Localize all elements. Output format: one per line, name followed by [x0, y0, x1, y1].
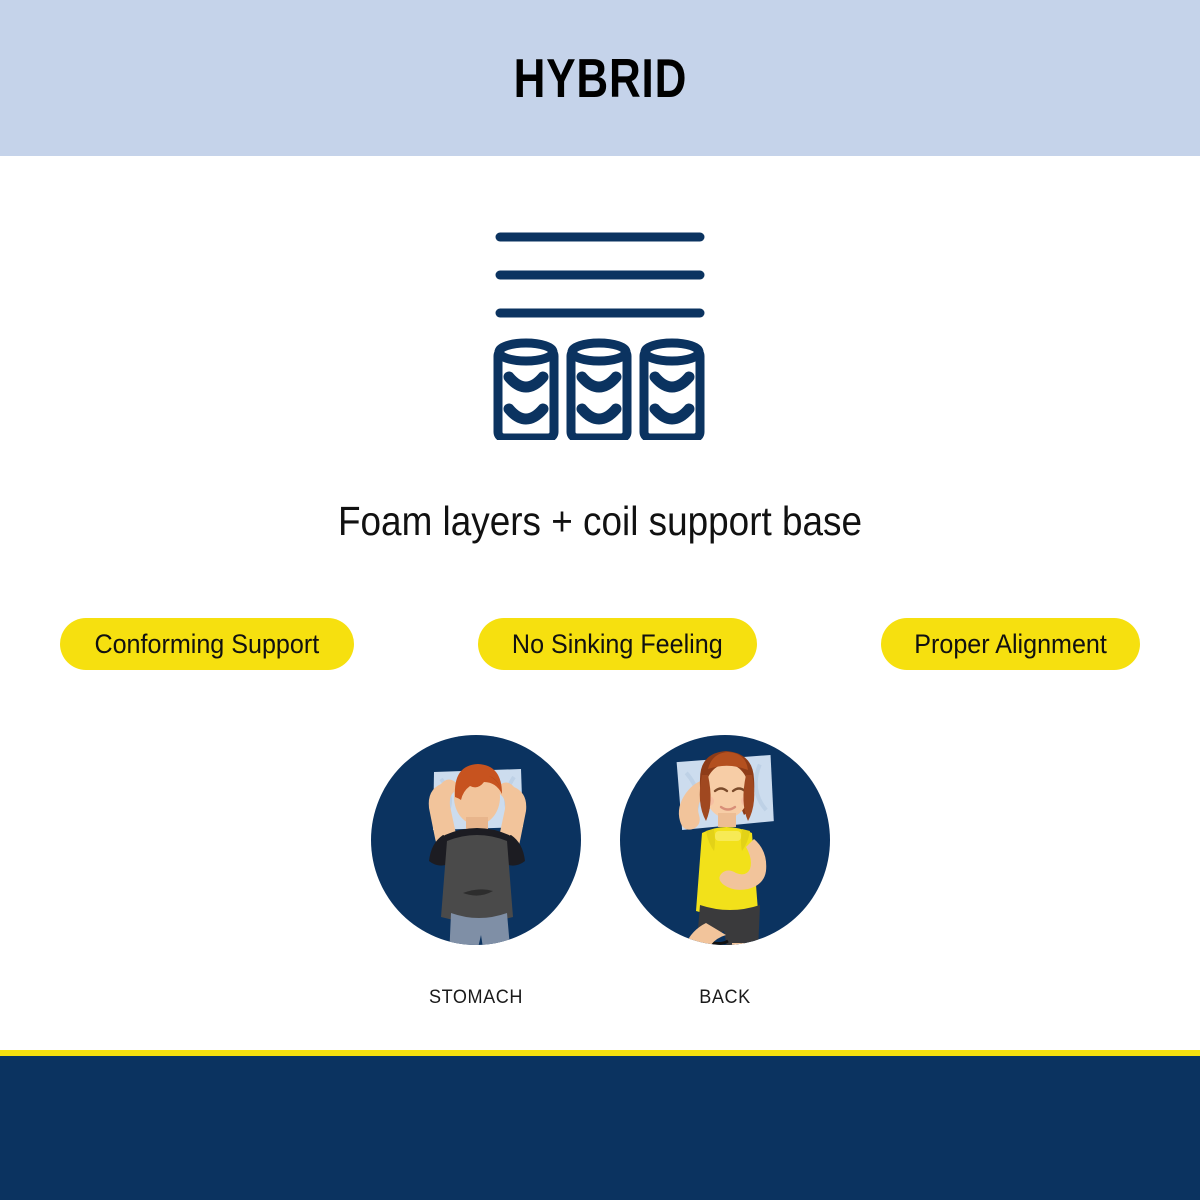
feature-pill-no-sinking-feeling[interactable]: No Sinking Feeling — [478, 618, 757, 670]
header-band: HYBRID — [0, 0, 1200, 156]
subhead-text: Foam layers + coil support base — [60, 498, 1140, 545]
sleep-position-stomach[interactable]: STOMACH — [371, 735, 581, 1009]
sleep-position-back[interactable]: BACK — [620, 735, 830, 1009]
coil-2 — [571, 343, 627, 438]
back-sleeper-circle — [620, 735, 830, 945]
stomach-sleeper-circle — [371, 735, 581, 945]
head — [704, 752, 751, 818]
coil-3 — [644, 343, 700, 438]
feature-pill-row: Conforming Support No Sinking Feeling Pr… — [60, 618, 1140, 670]
stomach-sleeper-illustration — [371, 735, 581, 945]
feature-pill-proper-alignment[interactable]: Proper Alignment — [881, 618, 1140, 670]
sleep-position-label-stomach: STOMACH — [376, 987, 576, 1009]
back-sleeper-illustration — [620, 735, 830, 945]
torso — [429, 828, 525, 922]
feature-pill-label: Conforming Support — [94, 629, 319, 660]
hybrid-mattress-icon — [490, 225, 710, 440]
infographic-page: HYBRID — [0, 0, 1200, 1200]
hybrid-icon-container — [0, 215, 1200, 450]
coil-1 — [498, 343, 554, 438]
feature-pill-label: No Sinking Feeling — [512, 629, 723, 660]
page-title: HYBRID — [513, 46, 686, 110]
feature-pill-conforming-support[interactable]: Conforming Support — [60, 618, 354, 670]
sleep-position-label-back: BACK — [625, 987, 825, 1009]
feature-pill-label: Proper Alignment — [914, 629, 1107, 660]
footer-band: Serta ® — [0, 1056, 1200, 1200]
